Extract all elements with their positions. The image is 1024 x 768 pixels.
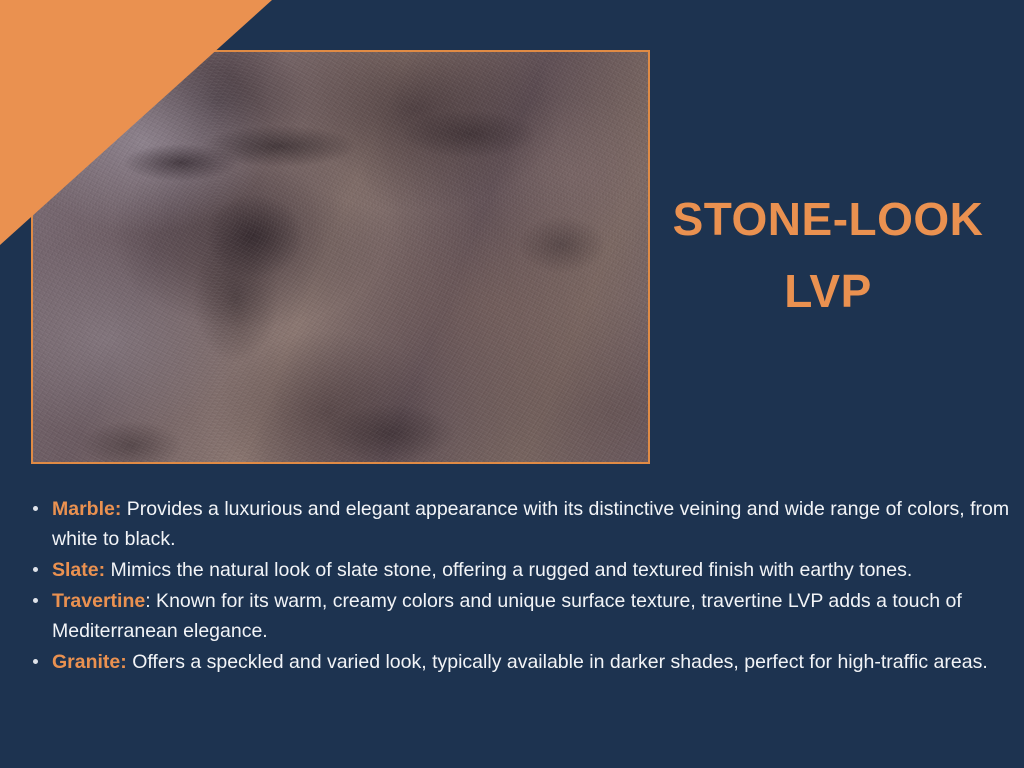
list-item: Travertine: Known for its warm, creamy c… <box>24 586 1020 646</box>
page-title-line-2: LVP <box>656 255 1000 327</box>
stone-type-bullet-list: Marble: Provides a luxurious and elegant… <box>24 494 1020 678</box>
list-item-term: Slate <box>52 559 99 581</box>
list-item-description: Provides a luxurious and elegant appeara… <box>52 498 1009 550</box>
page-title-line-1: STONE-LOOK <box>656 183 1000 255</box>
page-title: STONE-LOOK LVP <box>656 183 1000 327</box>
list-item-description: Known for its warm, creamy colors and un… <box>52 590 962 642</box>
bullet-dot-icon <box>33 659 38 664</box>
bullet-dot-icon <box>33 598 38 603</box>
slide-canvas: STONE-LOOK LVP Marble: Provides a luxuri… <box>0 0 1024 768</box>
list-item-description: Offers a speckled and varied look, typic… <box>127 651 988 673</box>
list-item-term: Travertine <box>52 590 145 612</box>
list-item-description: Mimics the natural look of slate stone, … <box>105 559 912 581</box>
list-item-term: Marble <box>52 498 115 520</box>
stone-texture-image <box>31 50 650 464</box>
bullet-dot-icon <box>33 567 38 572</box>
list-item: Marble: Provides a luxurious and elegant… <box>24 494 1020 554</box>
stone-texture-grain <box>33 52 648 462</box>
list-item: Granite: Offers a speckled and varied lo… <box>24 647 1020 677</box>
bullet-dot-icon <box>33 506 38 511</box>
list-item: Slate: Mimics the natural look of slate … <box>24 555 1020 585</box>
list-item-term: Granite <box>52 651 120 673</box>
